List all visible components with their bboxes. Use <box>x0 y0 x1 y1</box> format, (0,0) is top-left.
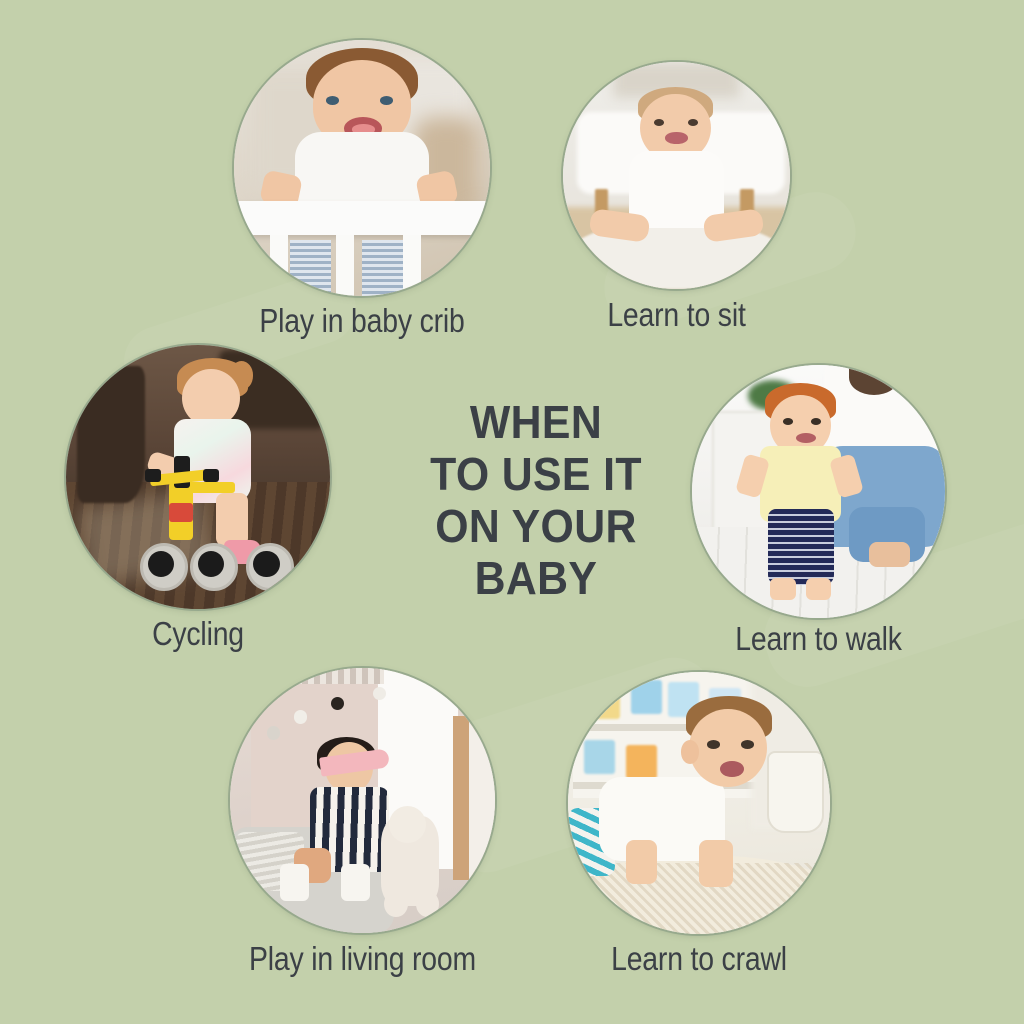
caption-walk: Learn to walk <box>710 620 928 658</box>
caption-crib: Play in baby crib <box>252 302 472 340</box>
photo-sit <box>563 62 790 289</box>
scene-walk <box>692 365 945 618</box>
photo-circle-living <box>230 668 495 933</box>
headline-line-3: ON YOUR <box>410 500 663 552</box>
headline-line-4: BABY <box>410 552 663 604</box>
photo-cycling <box>66 345 330 609</box>
photo-circle-crawl <box>568 672 830 934</box>
caption-crawl: Learn to crawl <box>586 940 811 978</box>
photo-crib <box>234 40 490 296</box>
photo-circle-sit <box>563 62 790 289</box>
caption-cycling: Cycling <box>84 615 311 653</box>
scene-sit <box>563 62 790 289</box>
photo-living <box>230 668 495 933</box>
headline-line-1: WHEN <box>410 396 663 448</box>
scene-crawl <box>568 672 830 934</box>
infographic-canvas: Play in baby crib Learn to si <box>0 0 1024 1024</box>
headline-line-2: TO USE IT <box>410 448 663 500</box>
scene-crib <box>234 40 490 296</box>
scene-living <box>230 668 495 933</box>
headline-block: WHEN TO USE IT ON YOUR BABY <box>400 396 672 604</box>
caption-sit: Learn to sit <box>579 296 774 334</box>
scene-cycling <box>66 345 330 609</box>
photo-circle-cycling <box>66 345 330 609</box>
photo-circle-crib <box>234 40 490 296</box>
photo-walk <box>692 365 945 618</box>
photo-crawl <box>568 672 830 934</box>
photo-circle-walk <box>692 365 945 618</box>
caption-living: Play in living room <box>249 940 477 978</box>
